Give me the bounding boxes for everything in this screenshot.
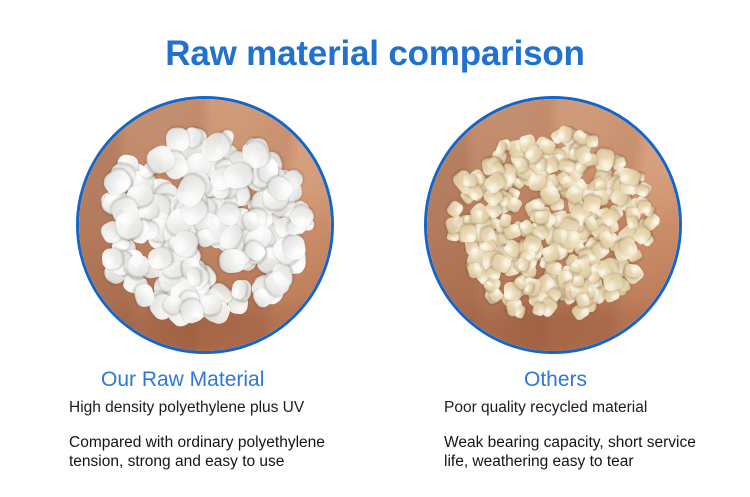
right-heading: Others: [524, 367, 587, 393]
pellet: [534, 211, 548, 225]
others-material-photo: [424, 96, 682, 354]
right-description: Weak bearing capacity, short service lif…: [444, 433, 744, 471]
left-subtitle: High density polyethylene plus UV: [69, 398, 304, 418]
white-pellet-pile: [79, 99, 331, 351]
raw-material-comparison-graphic: Raw material comparison Our Raw Material…: [0, 0, 750, 497]
pellet: [594, 147, 616, 172]
right-subtitle: Poor quality recycled material: [444, 398, 647, 418]
pellet: [637, 200, 651, 214]
photo-inner-right: [427, 99, 679, 351]
pellet: [218, 248, 246, 274]
pellet: [582, 193, 602, 213]
pellet: [624, 263, 639, 278]
pellet: [573, 276, 584, 287]
photo-inner-left: [79, 99, 331, 351]
yellow-pellet-pile: [427, 99, 679, 351]
left-heading: Our Raw Material: [101, 367, 264, 393]
pellet: [551, 228, 567, 245]
page-title: Raw material comparison: [0, 33, 750, 75]
pellet: [459, 223, 476, 242]
pellet: [586, 135, 599, 147]
pellet: [186, 267, 202, 287]
our-raw-material-photo: [76, 96, 334, 354]
pellet: [469, 209, 483, 224]
left-description: Compared with ordinary polyethylene tens…: [69, 433, 399, 471]
pellet: [462, 175, 476, 187]
